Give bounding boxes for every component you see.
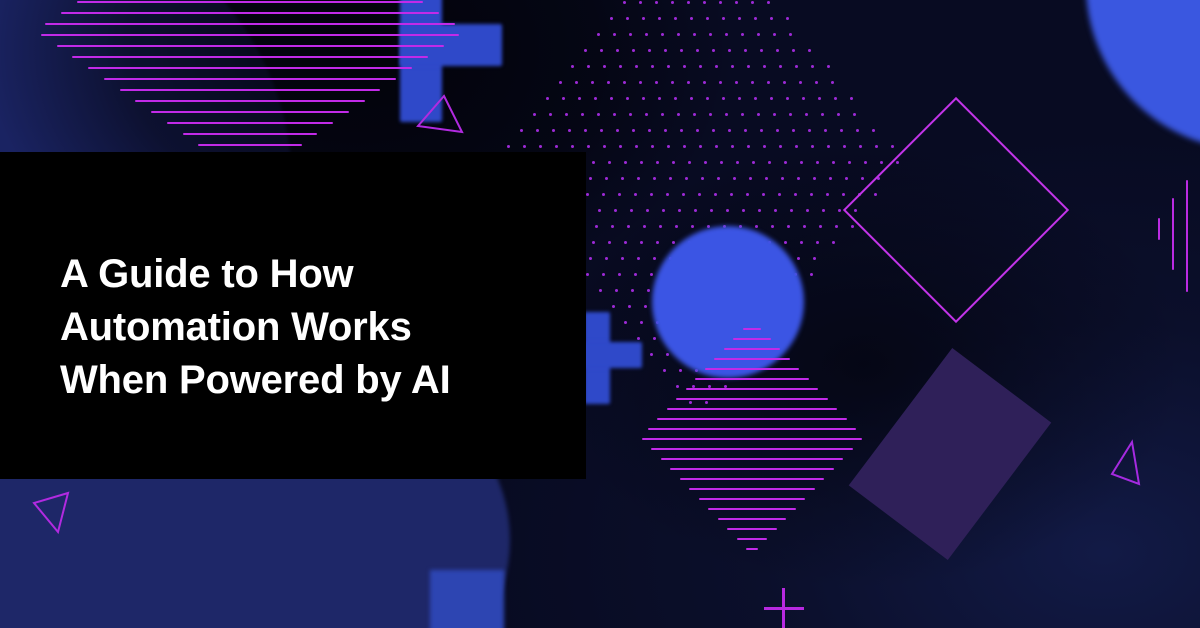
striped-diamond-right-edge bbox=[1150, 170, 1200, 330]
plus-bottom-icon bbox=[764, 588, 804, 628]
triangle-top-icon bbox=[414, 92, 466, 142]
page-title: A Guide to How Automation Works When Pow… bbox=[60, 248, 570, 407]
banner-canvas: A Guide to How Automation Works When Pow… bbox=[0, 0, 1200, 628]
blue-square-bottom bbox=[430, 570, 504, 628]
triangle-right-icon bbox=[1104, 432, 1164, 490]
title-plate: A Guide to How Automation Works When Pow… bbox=[0, 152, 586, 479]
blue-cross-middle bbox=[584, 312, 664, 404]
triangle-bottom-left-icon bbox=[30, 490, 80, 538]
